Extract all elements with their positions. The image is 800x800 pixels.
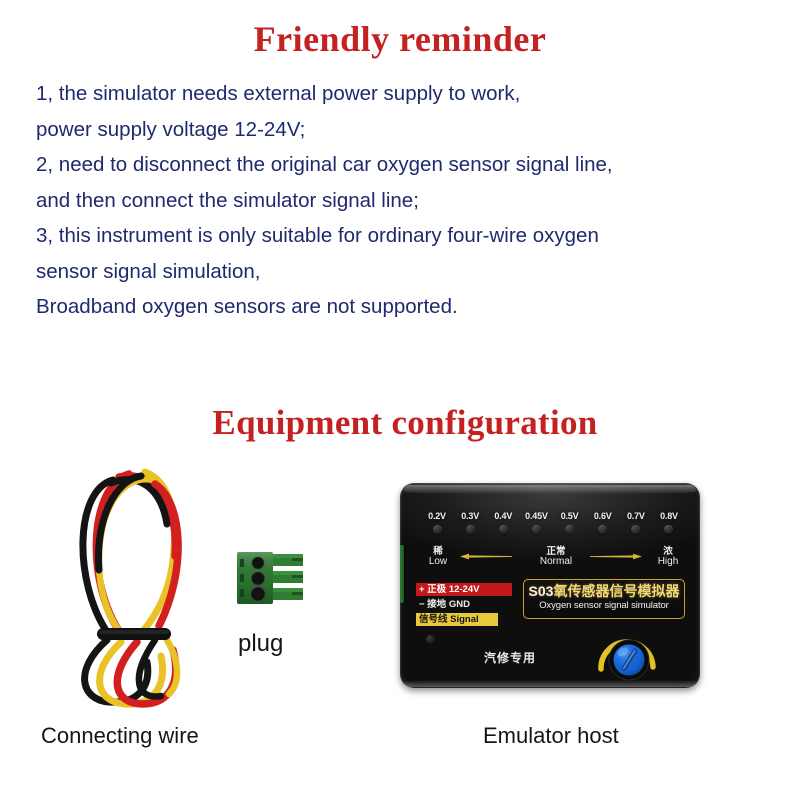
voltage-step: 0.5V <box>555 511 585 534</box>
voltage-step: 0.45V <box>521 511 551 534</box>
arrow-right-icon <box>590 553 642 560</box>
reminder-note-line: Broadband oxygen sensors are not support… <box>36 289 784 325</box>
cable-tie-icon <box>97 628 171 640</box>
voltage-step: 0.2V <box>422 511 452 534</box>
voltage-step: 0.8V <box>654 511 684 534</box>
arrow-left-icon <box>460 553 512 560</box>
range-indicator-row: 稀 Low 正常 Normal 浓 High <box>422 547 684 575</box>
terminal-signal-label: 信号线 Signal <box>416 613 498 626</box>
reminder-notes-block: 1, the simulator needs external power su… <box>36 76 784 325</box>
friendly-reminder-title: Friendly reminder <box>0 18 800 60</box>
voltage-label: 0.4V <box>488 511 518 521</box>
led-indicator <box>499 525 508 534</box>
voltage-step: 0.3V <box>455 511 485 534</box>
voltage-label: 0.5V <box>555 511 585 521</box>
side-green-connector <box>400 545 404 603</box>
reminder-note-line: sensor signal simulation, <box>36 254 784 290</box>
plug-image <box>237 550 319 606</box>
range-low-label-en: Low <box>422 557 454 568</box>
adjustment-knob[interactable] <box>596 623 662 683</box>
led-indicator <box>532 525 541 534</box>
voltage-label: 0.7V <box>621 511 651 521</box>
device-bottom-note: 汽修专用 <box>484 649 536 666</box>
range-low-group: 稀 Low <box>422 547 454 567</box>
led-indicator <box>631 525 640 534</box>
voltage-label: 0.3V <box>455 511 485 521</box>
emulator-host-device[interactable]: 0.2V 0.3V 0.4V 0.45V 0.5V 0.6V <box>400 483 700 688</box>
device-title-plate: S03氧传感器信号模拟器 Oxygen sensor signal simula… <box>523 579 685 619</box>
equipment-configuration-title: Equipment configuration <box>0 403 800 443</box>
led-indicator <box>664 525 673 534</box>
connecting-wire-image <box>55 450 215 710</box>
device-model-label: S03 <box>529 583 554 599</box>
plug-caption: plug <box>238 630 283 658</box>
led-indicator <box>598 525 607 534</box>
range-normal-group: 正常 Normal <box>534 547 578 567</box>
reminder-note-line: 2, need to disconnect the original car o… <box>36 147 784 183</box>
range-high-group: 浓 High <box>652 547 684 567</box>
reminder-note-line: 3, this instrument is only suitable for … <box>36 218 784 254</box>
terminal-positive-label: + 正极 12-24V <box>416 583 512 596</box>
voltage-step: 0.6V <box>588 511 618 534</box>
reminder-note-line: 1, the simulator needs external power su… <box>36 76 784 112</box>
voltage-label: 0.6V <box>588 511 618 521</box>
voltage-step: 0.7V <box>621 511 651 534</box>
connecting-wire-caption: Connecting wire <box>41 723 199 749</box>
voltage-scale-row: 0.2V 0.3V 0.4V 0.45V 0.5V 0.6V <box>422 511 684 534</box>
device-title-cn: 氧传感器信号模拟器 <box>553 583 679 599</box>
equipment-photo-area: Connecting wire <box>0 440 800 800</box>
terminal-ground-label: − 接地 GND <box>416 598 512 611</box>
led-indicator <box>565 525 574 534</box>
led-indicator <box>466 525 475 534</box>
coiled-wire-icon <box>55 450 215 710</box>
device-title-cn-row: S03氧传感器信号模拟器 <box>524 583 684 600</box>
range-normal-label-en: Normal <box>534 557 578 568</box>
terminal-legend: + 正极 12-24V − 接地 GND 信号线 Signal <box>416 583 512 628</box>
voltage-label: 0.2V <box>422 511 452 521</box>
green-terminal-block-icon <box>237 550 319 606</box>
screw-icon <box>426 635 435 644</box>
emulator-host-caption: Emulator host <box>483 723 619 749</box>
knob-icon[interactable] <box>596 623 662 683</box>
device-title-en: Oxygen sensor signal simulator <box>524 600 684 612</box>
led-indicator <box>433 525 442 534</box>
voltage-label: 0.8V <box>654 511 684 521</box>
reminder-note-line: power supply voltage 12-24V; <box>36 112 784 148</box>
range-high-label-en: High <box>652 557 684 568</box>
reminder-note-line: and then connect the simulator signal li… <box>36 183 784 219</box>
voltage-step: 0.4V <box>488 511 518 534</box>
voltage-label: 0.45V <box>521 511 551 521</box>
